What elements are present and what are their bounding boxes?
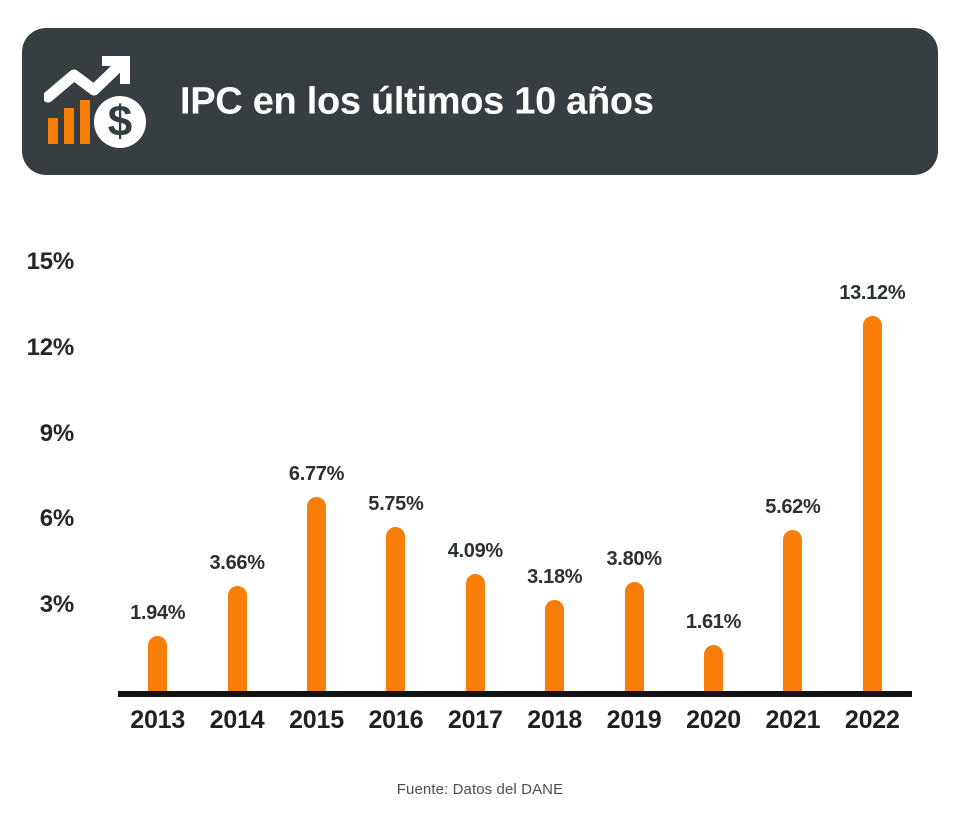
bar-value-label: 3.66% [209,552,264,575]
bar-2016[interactable] [386,527,405,691]
x-axis-tick-label: 2015 [289,706,344,735]
bar-value-label: 4.09% [448,540,503,563]
bar-value-label: 1.61% [686,611,741,634]
bar-2019[interactable] [625,582,644,691]
x-axis-tick-label: 2017 [448,706,503,735]
bar-2017[interactable] [466,574,485,691]
bar-value-label: 13.12% [839,282,905,305]
bar-value-label: 6.77% [289,463,344,486]
chart-page: $ IPC en los últimos 10 años 3%6%9%12%15… [0,0,960,831]
bar-value-label: 1.94% [130,602,185,625]
bar-2015[interactable] [307,497,326,691]
bar-value-label: 3.18% [527,566,582,589]
bar-value-label: 5.75% [368,493,423,516]
x-axis-tick-label: 2020 [686,706,741,735]
x-axis-tick-label: 2021 [765,706,820,735]
bars-layer: 1.94%20133.66%20146.77%20155.75%20164.09… [0,0,960,831]
bar-chart: 3%6%9%12%15% 1.94%20133.66%20146.77%2015… [0,0,960,831]
chart-source-note: Fuente: Datos del DANE [0,781,960,798]
x-axis-tick-label: 2016 [368,706,423,735]
x-axis-tick-label: 2013 [130,706,185,735]
bar-2014[interactable] [228,586,247,691]
bar-2018[interactable] [545,600,564,691]
bar-2020[interactable] [704,645,723,691]
bar-2022[interactable] [863,316,882,691]
x-axis-tick-label: 2022 [845,706,900,735]
bar-value-label: 5.62% [765,496,820,519]
bar-value-label: 3.80% [606,548,661,571]
bar-2021[interactable] [783,530,802,691]
x-axis-tick-label: 2014 [210,706,265,735]
x-axis-tick-label: 2019 [607,706,662,735]
bar-2013[interactable] [148,636,167,691]
x-axis-tick-label: 2018 [527,706,582,735]
